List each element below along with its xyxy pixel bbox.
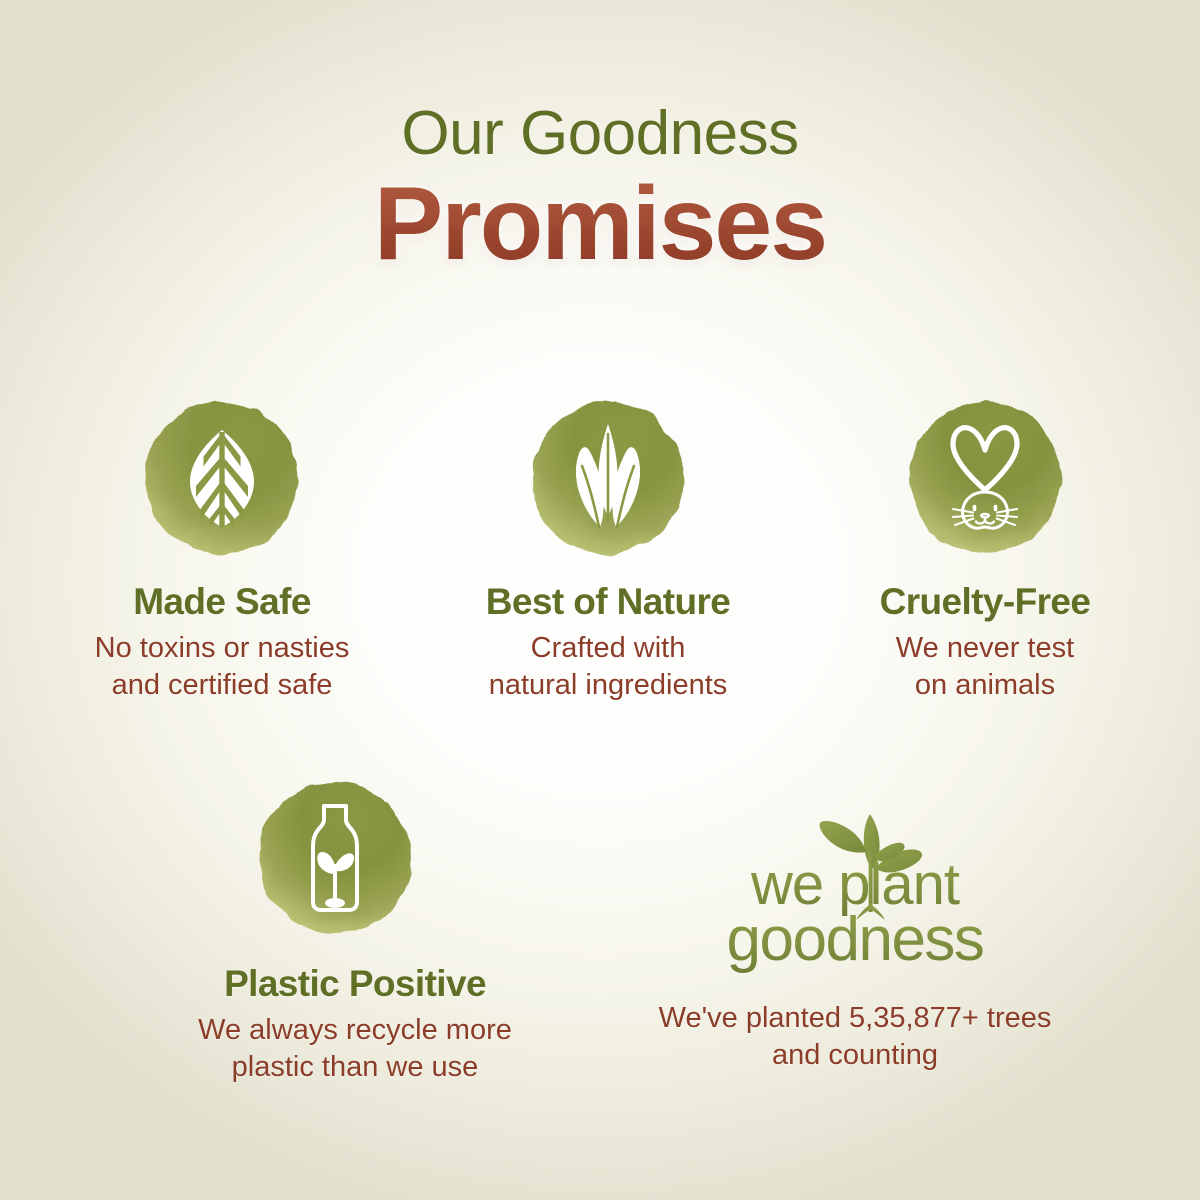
promises-infographic: Our Goodness Promises [0,0,1200,1200]
bottle-sprout-icon [253,776,417,940]
promise-card-best-of-nature: Best of Nature Crafted with natural ingr… [428,396,788,704]
promise-description: No toxins or nasties and certified safe [42,630,402,704]
we-plant-goodness-logo-svg: we plant goodness [690,808,1020,998]
promise-title: Made Safe [42,580,402,624]
promise-card-plastic-positive: Plastic Positive We always recycle more … [155,776,555,1086]
promise-card-made-safe: Made Safe No toxins or nasties and certi… [42,396,402,704]
promise-description: Crafted with natural ingredients [428,630,788,704]
promise-description: We never test on animals [805,630,1165,704]
promise-title: Cruelty-Free [805,580,1165,624]
badge-best-of-nature [526,396,690,560]
page-title-line2: Promises [0,168,1200,280]
we-plant-goodness-block: we plant goodness We've planted 5,35,877… [620,808,1090,1074]
we-plant-goodness-logo: we plant goodness [690,808,1020,998]
we-plant-goodness-caption: We've planted 5,35,877+ trees and counti… [620,1000,1090,1074]
page-title-line1: Our Goodness [0,100,1200,168]
leaf-icon [140,396,304,560]
promise-description: We always recycle more plastic than we u… [155,1012,555,1086]
promise-card-cruelty-free: Cruelty-Free We never test on animals [805,396,1165,704]
badge-made-safe [140,396,304,560]
badge-cruelty-free [903,396,1067,560]
logo-line2-text: goodness [727,905,984,974]
badge-plastic-positive [253,776,417,940]
page-title-line2-text: Promises [374,166,826,282]
bunny-heart-ears-icon [903,396,1067,560]
three-leaves-icon [526,396,690,560]
promise-title: Plastic Positive [155,962,555,1006]
promise-title: Best of Nature [428,580,788,624]
